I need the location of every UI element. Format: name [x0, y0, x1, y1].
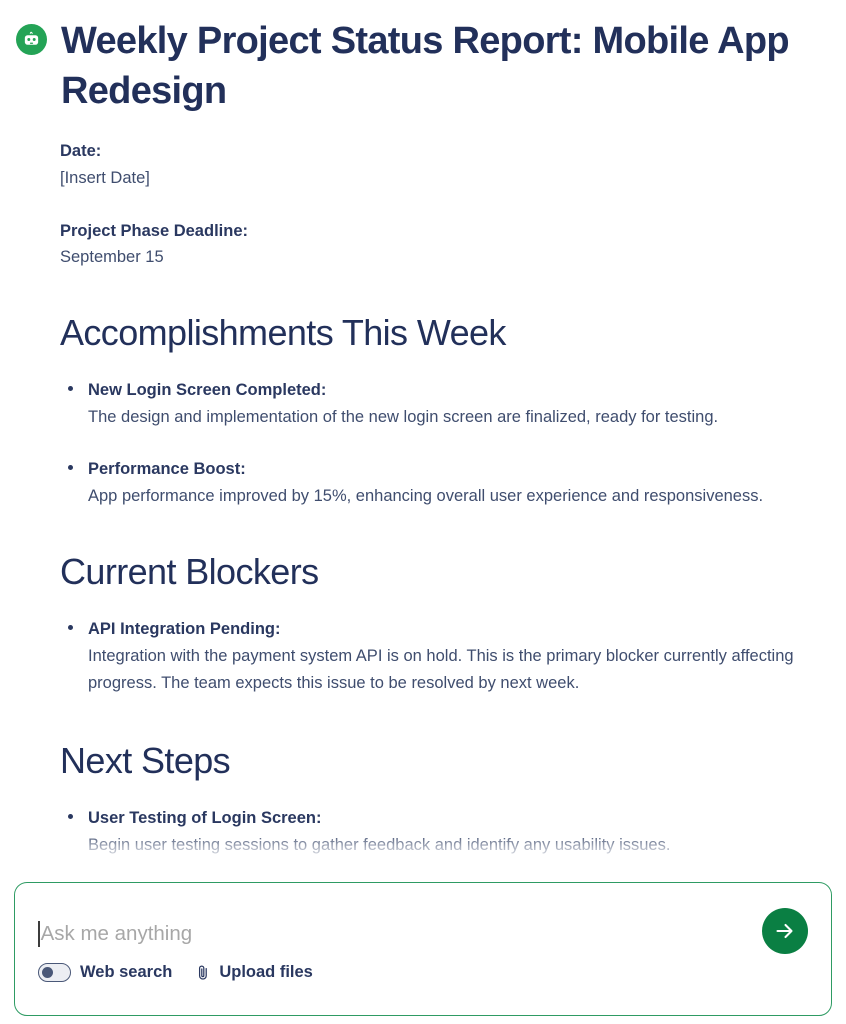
- meta-deadline-label: Project Phase Deadline:: [60, 218, 806, 245]
- section-heading-next-steps: Next Steps: [16, 739, 806, 782]
- meta-date: Date: [Insert Date]: [16, 138, 806, 191]
- page-title: Weekly Project Status Report: Mobile App…: [61, 14, 801, 116]
- send-button[interactable]: [762, 908, 808, 954]
- bullet-description: Integration with the payment system API …: [88, 643, 806, 696]
- app-root: Weekly Project Status Report: Mobile App…: [0, 0, 846, 1024]
- bullet-title: API Integration Pending:: [88, 616, 806, 643]
- arrow-right-icon: [773, 919, 797, 943]
- list-item: User Testing of Login Screen: Begin user…: [88, 805, 806, 858]
- bullet-list-accomplishments: New Login Screen Completed: The design a…: [16, 377, 806, 509]
- meta-deadline-value: September 15: [60, 244, 806, 271]
- list-item: API Integration Pending: Integration wit…: [88, 616, 806, 696]
- section-heading-accomplishments: Accomplishments This Week: [16, 311, 806, 354]
- document-header: Weekly Project Status Report: Mobile App…: [16, 14, 806, 116]
- list-item: Performance Boost: App performance impro…: [88, 456, 806, 509]
- toggle-knob: [42, 967, 53, 978]
- upload-files-label: Upload files: [219, 963, 313, 982]
- web-search-label: Web search: [80, 963, 172, 982]
- web-search-toggle[interactable]: Web search: [38, 963, 172, 982]
- bullet-dot-icon: [68, 625, 73, 630]
- bullet-description: App performance improved by 15%, enhanci…: [88, 483, 806, 510]
- toggle-switch-icon[interactable]: [38, 963, 71, 982]
- bullet-title: User Testing of Login Screen:: [88, 805, 806, 832]
- text-cursor-icon: [38, 921, 40, 947]
- paperclip-icon: [195, 963, 210, 982]
- composer-panel: Ask me anything Web search: [14, 882, 832, 1016]
- meta-date-value: [Insert Date]: [60, 165, 806, 192]
- bullet-list-current-blockers: API Integration Pending: Integration wit…: [16, 616, 806, 696]
- bullet-dot-icon: [68, 465, 73, 470]
- composer-tools: Web search Upload files: [38, 963, 313, 982]
- robot-icon: [16, 24, 47, 55]
- chat-input-wrapper[interactable]: Ask me anything: [38, 921, 741, 947]
- bullet-description: Begin user testing sessions to gather fe…: [88, 832, 806, 859]
- bullet-title: New Login Screen Completed:: [88, 377, 806, 404]
- document-scroll-area[interactable]: Weekly Project Status Report: Mobile App…: [0, 0, 846, 868]
- bullet-title: Performance Boost:: [88, 456, 806, 483]
- chat-input-placeholder[interactable]: Ask me anything: [41, 924, 193, 945]
- bullet-dot-icon: [68, 386, 73, 391]
- upload-files-button[interactable]: Upload files: [195, 963, 313, 982]
- bullet-description: The design and implementation of the new…: [88, 404, 806, 431]
- bullet-list-next-steps: User Testing of Login Screen: Begin user…: [16, 805, 806, 868]
- meta-date-label: Date:: [60, 138, 806, 165]
- list-item: New Login Screen Completed: The design a…: [88, 377, 806, 430]
- meta-deadline: Project Phase Deadline: September 15: [16, 218, 806, 271]
- document-content: Weekly Project Status Report: Mobile App…: [0, 0, 846, 868]
- section-heading-current-blockers: Current Blockers: [16, 550, 806, 593]
- bullet-dot-icon: [68, 814, 73, 819]
